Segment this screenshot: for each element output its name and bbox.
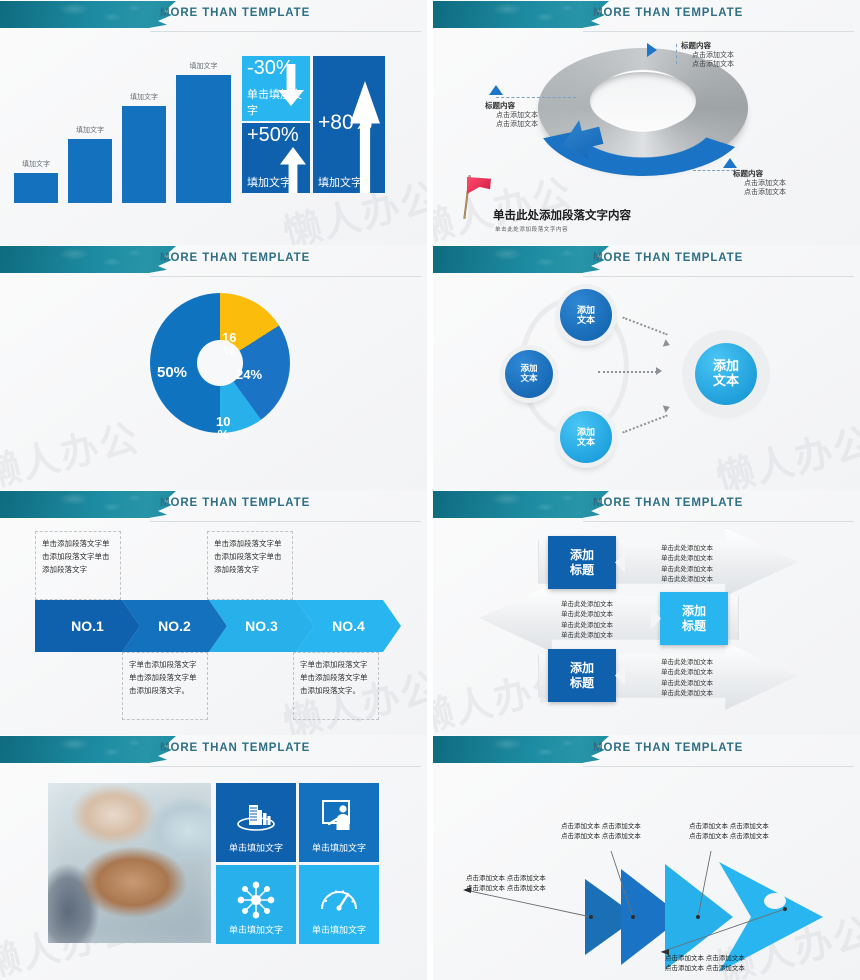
- slice-label-50: 50%: [157, 365, 187, 380]
- watermark: 懒人办公: [710, 410, 860, 490]
- source-node-left[interactable]: 添加 文本: [505, 350, 553, 398]
- flag-icon: [455, 173, 489, 219]
- header-band: [0, 491, 150, 518]
- stat-card-up-80[interactable]: +80% 填加文字: [313, 56, 385, 193]
- callout-title: 标题内容: [733, 168, 786, 179]
- icon-tile-building[interactable]: 单击填加文字: [216, 783, 296, 862]
- stat-caption: 填加文字: [247, 174, 291, 190]
- handshake-photo: [48, 783, 211, 943]
- slide-header: MORE THAN TEMPLATE: [0, 490, 427, 522]
- flow-arrow-bottom: [622, 414, 668, 433]
- tile-title: 添加 标题: [682, 604, 706, 634]
- arrow-body-2: 单击此处添加文本 单击此处添加文本 单击此处添加文本 单击此处添加文本: [561, 600, 613, 642]
- bar-label: 填加文字: [76, 125, 104, 135]
- slide-donut-regions[interactable]: MORE THAN TEMPLATE 懒人办公 16 % 24% 10 % 50…: [0, 245, 427, 490]
- step-text-1[interactable]: 单击添加段落文字单击添加段落文字单击添加段落文字: [35, 531, 121, 600]
- note-bottom[interactable]: 点击添加文本 点击添加文本 点击添加文本 点击添加文本: [665, 954, 745, 975]
- header-title: MORE THAN TEMPLATE: [593, 7, 743, 19]
- tile-label: 单击填加文字: [312, 841, 366, 854]
- slice-label-10: 10 %: [216, 415, 230, 441]
- tile-title: 添加 标题: [570, 548, 594, 578]
- slide-photo-icon-tiles[interactable]: MORE THAN TEMPLATE 懒人办公 单击填加文字: [0, 735, 427, 980]
- header-band: [433, 246, 583, 273]
- slide-opposing-arrows[interactable]: MORE THAN TEMPLATE 懒人办公 添加 标题 单击此处添加文本 单…: [433, 490, 860, 735]
- target-node[interactable]: 添加 文本: [695, 343, 757, 405]
- callout-top[interactable]: 标题内容 点击添加文本 点击添加文本: [681, 40, 734, 70]
- slide-header: MORE THAN TEMPLATE: [0, 0, 427, 32]
- arrow-body-3: 单击此处添加文本 单击此处添加文本 单击此处添加文本 单击此处添加文本: [661, 658, 713, 700]
- slide-cycle-ring[interactable]: MORE THAN TEMPLATE 懒人办公 标题内容 点击添加文本 点击添加…: [433, 0, 860, 245]
- flow-arrowhead-icon: [656, 367, 662, 375]
- flow-arrow-middle: [598, 371, 657, 373]
- step-text-4[interactable]: 字单击添加段落文字单击添加段落文字单击添加段落文字。: [293, 652, 379, 720]
- watermark: 懒人办公: [0, 406, 144, 490]
- header-band: [433, 1, 583, 28]
- slide-growth-bars[interactable]: MORE THAN TEMPLATE 懒人办公 填加文字 填加文字 填加文字 填…: [0, 0, 427, 245]
- callout-left[interactable]: 标题内容 点击添加文本 点击添加文本: [485, 100, 538, 130]
- tile-label: 单击填加文字: [312, 923, 366, 936]
- flow-arrowhead-icon: [663, 403, 671, 413]
- flow-arrow-top: [622, 316, 668, 335]
- presentation-person-icon: [319, 799, 359, 840]
- stat-caption: 单击填加文字: [247, 86, 310, 118]
- slide-header: MORE THAN TEMPLATE: [0, 735, 427, 767]
- header-divider: [150, 766, 421, 767]
- tile-label: 单击填加文字: [229, 841, 283, 854]
- node-label: 添加 文本: [577, 305, 595, 326]
- icon-tile-presentation[interactable]: 单击填加文字: [299, 783, 379, 862]
- header-divider: [583, 276, 854, 277]
- slide-header: MORE THAN TEMPLATE: [433, 245, 860, 277]
- header-title: MORE THAN TEMPLATE: [160, 742, 310, 754]
- source-node-top[interactable]: 添加 文本: [560, 289, 612, 341]
- slide-header: MORE THAN TEMPLATE: [433, 0, 860, 32]
- bar-3[interactable]: 填加文字: [122, 106, 166, 203]
- callout-pin-icon: [489, 85, 503, 95]
- slide-deck: MORE THAN TEMPLATE 懒人办公 填加文字 填加文字 填加文字 填…: [0, 0, 860, 980]
- tile-label: 单击填加文字: [229, 923, 283, 936]
- slide-header: MORE THAN TEMPLATE: [0, 245, 427, 277]
- gauge-icon: [318, 881, 360, 920]
- arrow-title-tile-1[interactable]: 添加 标题: [548, 536, 616, 589]
- header-title: MORE THAN TEMPLATE: [593, 252, 743, 264]
- header-divider: [583, 521, 854, 522]
- node-label: 添加 文本: [577, 427, 595, 448]
- callout-line: 点击添加文本: [681, 60, 734, 69]
- callout-right[interactable]: 标题内容 点击添加文本 点击添加文本: [733, 168, 786, 198]
- sub-caption: 单击此处添加段落文字内容: [495, 225, 568, 233]
- stat-card-up-50[interactable]: +50% 填加文字: [242, 123, 310, 193]
- flow-arrowhead-icon: [663, 339, 671, 349]
- note-left[interactable]: 点击添加文本 点击添加文本 点击添加文本 点击添加文本: [466, 874, 546, 895]
- building-icon: [235, 799, 277, 840]
- slice-label-24: 24%: [236, 368, 262, 381]
- callout-line: 点击添加文本: [485, 111, 538, 120]
- arrow-title-tile-3[interactable]: 添加 标题: [548, 649, 616, 702]
- main-caption: 单击此处添加段落文字内容: [493, 207, 631, 223]
- step-text-3[interactable]: 单击添加段落文字单击添加段落文字单击添加段落文字: [207, 531, 293, 600]
- tile-title: 添加 标题: [570, 661, 594, 691]
- arrow-body-1: 单击此处添加文本 单击此处添加文本 单击此处添加文本 单击此处添加文本: [661, 544, 713, 586]
- step-number: NO.4: [332, 618, 365, 634]
- step-number: NO.3: [245, 618, 278, 634]
- bar-label: 填加文字: [130, 92, 158, 102]
- callout-line: 点击添加文本: [733, 188, 786, 197]
- slide-arrow-fish[interactable]: MORE THAN TEMPLATE 懒人办公: [433, 735, 860, 980]
- callout-title: 标题内容: [485, 100, 538, 111]
- bar-2[interactable]: 填加文字: [68, 139, 112, 203]
- node-label: 添加 文本: [713, 359, 739, 389]
- header-divider: [150, 521, 421, 522]
- header-band: [0, 736, 150, 763]
- bar-label: 填加文字: [22, 159, 50, 169]
- header-title: MORE THAN TEMPLATE: [160, 252, 310, 264]
- source-node-bottom[interactable]: 添加 文本: [560, 411, 612, 463]
- note-top-left[interactable]: 点击添加文本 点击添加文本 点击添加文本 点击添加文本: [561, 822, 641, 843]
- stat-caption: 填加文字: [318, 174, 362, 190]
- callout-pin-icon: [645, 45, 659, 55]
- header-divider: [150, 31, 421, 32]
- slide-header: MORE THAN TEMPLATE: [433, 490, 860, 522]
- slide-converge-circles[interactable]: MORE THAN TEMPLATE 懒人办公 添加 文本 添加 文本 添加 文…: [433, 245, 860, 490]
- header-divider: [583, 31, 854, 32]
- step-chevron-1[interactable]: NO.1: [35, 600, 140, 652]
- header-band: [433, 736, 583, 763]
- header-title: MORE THAN TEMPLATE: [593, 742, 743, 754]
- step-number: NO.1: [71, 618, 104, 634]
- slide-numbered-chevrons[interactable]: MORE THAN TEMPLATE 懒人办公 单击添加段落文字单击添加段落文字…: [0, 490, 427, 735]
- header-title: MORE THAN TEMPLATE: [160, 7, 310, 19]
- header-band: [0, 1, 150, 28]
- donut-chart: [150, 293, 290, 433]
- callout-line: 点击添加文本: [681, 51, 734, 60]
- callout-line: 点击添加文本: [485, 120, 538, 129]
- header-divider: [150, 276, 421, 277]
- bar-label: 填加文字: [190, 61, 218, 71]
- header-title: MORE THAN TEMPLATE: [160, 497, 310, 509]
- node-label: 添加 文本: [520, 364, 537, 384]
- network-icon: [236, 881, 276, 924]
- callout-pin-icon: [723, 158, 737, 168]
- step-text-2[interactable]: 字单击添加段落文字单击添加段落文字单击添加段落文字。: [122, 652, 208, 720]
- arrow-title-tile-2[interactable]: 添加 标题: [660, 592, 728, 645]
- slice-label-16: 16 %: [222, 331, 236, 357]
- bar-4[interactable]: 填加文字: [176, 75, 231, 203]
- header-band: [0, 246, 150, 273]
- stat-percent: +50%: [247, 125, 299, 145]
- icon-tile-network[interactable]: 单击填加文字: [216, 865, 296, 944]
- header-title: MORE THAN TEMPLATE: [593, 497, 743, 509]
- callout-line: 点击添加文本: [733, 179, 786, 188]
- bar-1[interactable]: 填加文字: [14, 173, 58, 203]
- callout-title: 标题内容: [681, 40, 734, 51]
- note-top-right[interactable]: 点击添加文本 点击添加文本 点击添加文本 点击添加文本: [689, 822, 769, 843]
- slide-header: MORE THAN TEMPLATE: [433, 735, 860, 767]
- stat-card-down-30[interactable]: -30% 单击填加文字: [242, 56, 310, 121]
- header-band: [433, 491, 583, 518]
- step-number: NO.2: [158, 618, 191, 634]
- icon-tile-gauge[interactable]: 单击填加文字: [299, 865, 379, 944]
- bar-chart: 填加文字 填加文字 填加文字 填加文字: [14, 53, 234, 203]
